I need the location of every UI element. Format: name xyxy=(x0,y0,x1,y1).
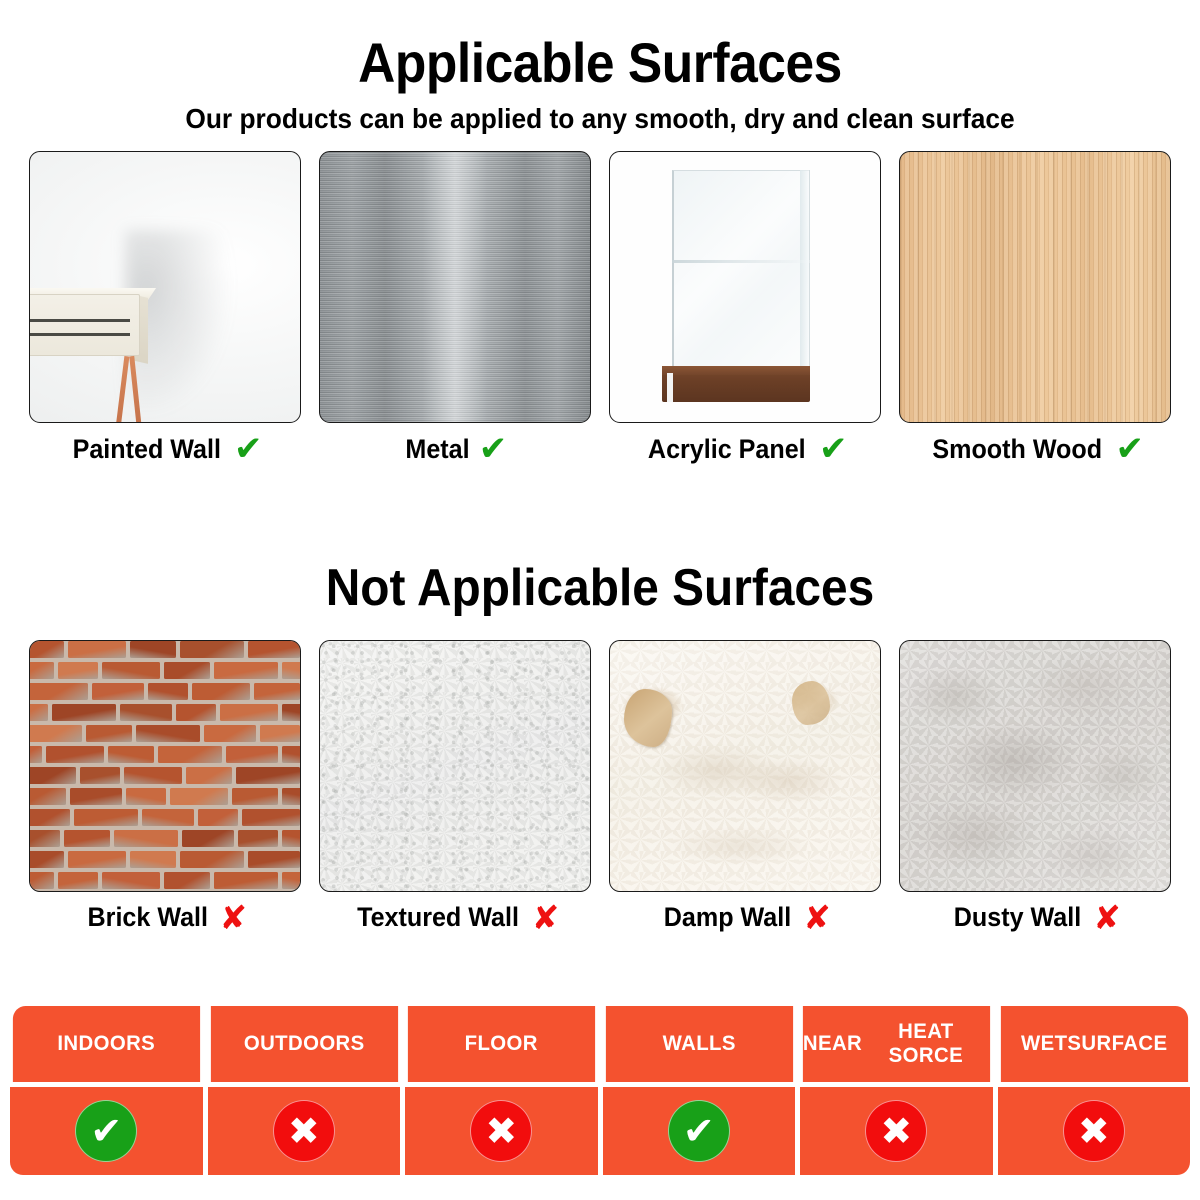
brick xyxy=(102,662,160,679)
brick xyxy=(220,704,278,721)
brick xyxy=(58,662,98,679)
label-line2: HEAT SORCE xyxy=(862,1020,989,1067)
surface-card-painted-wall: Painted Wall ✔ xyxy=(29,151,301,466)
brick xyxy=(242,809,300,826)
caption: Smooth Wood ✔ xyxy=(899,432,1171,466)
brick xyxy=(164,872,210,889)
caption: Textured Wall ✘ xyxy=(319,901,591,934)
surface-card-smooth-wood: Smooth Wood ✔ xyxy=(899,151,1171,466)
verdict-cell-walls: ✔ xyxy=(603,1087,796,1175)
verdict-header-near-heat-sorce: NEARHEAT SORCE xyxy=(803,1006,990,1082)
surface-card-metal: Metal ✔ xyxy=(319,151,591,466)
brick xyxy=(114,830,178,847)
brick xyxy=(148,683,188,700)
applicable-title: Applicable Surfaces xyxy=(48,30,1152,95)
brick xyxy=(29,809,70,826)
label-line1: WALLS xyxy=(662,1032,735,1056)
metal-highlight xyxy=(320,152,590,422)
verdict-header-floor: FLOOR xyxy=(408,1006,595,1082)
surface-label: Metal xyxy=(405,434,469,465)
brick xyxy=(29,872,54,889)
brick xyxy=(192,683,250,700)
cross-badge-icon: ✖ xyxy=(470,1100,532,1162)
brick xyxy=(282,830,301,847)
brick xyxy=(130,851,176,868)
brick xyxy=(248,851,300,868)
not-applicable-grid: Brick Wall ✘ Textured Wall ✘ Damp Wall xyxy=(0,640,1200,934)
verdict-header-wet-surface: WETSURFACE xyxy=(1000,1006,1187,1082)
brick-course xyxy=(30,788,300,808)
surface-card-textured-wall: Textured Wall ✘ xyxy=(319,640,591,934)
verdict-header-indoors: INDOORS xyxy=(13,1006,200,1082)
verdict-cell-indoors: ✔ xyxy=(10,1087,203,1175)
brick xyxy=(29,704,48,721)
brick-course xyxy=(30,872,300,892)
verdict-header-outdoors: OUTDOORS xyxy=(210,1006,397,1082)
caption: Metal ✔ xyxy=(319,432,591,466)
brick xyxy=(74,809,138,826)
paint-peel-right xyxy=(792,681,830,725)
brick-wall-image xyxy=(29,640,301,892)
surface-card-dusty-wall: Dusty Wall ✘ xyxy=(899,640,1171,934)
cross-icon: ✘ xyxy=(219,901,247,934)
brick xyxy=(238,830,278,847)
cross-badge-icon: ✖ xyxy=(1063,1100,1125,1162)
brick xyxy=(86,725,132,742)
check-icon: ✔ xyxy=(1115,432,1144,466)
brick xyxy=(164,662,210,679)
infographic-page: Applicable Surfaces Our products can be … xyxy=(0,0,1200,1200)
brick xyxy=(124,767,182,784)
verdict-table-header-row: INDOORSOUTDOORSFLOORWALLSNEARHEAT SORCEW… xyxy=(10,1006,1190,1082)
wooden-base-top xyxy=(662,366,810,375)
brick xyxy=(142,809,194,826)
cross-icon: ✘ xyxy=(532,901,560,934)
brick xyxy=(29,662,54,679)
not-applicable-section: Not Applicable Surfaces Brick Wall ✘ Tex… xyxy=(0,558,1200,934)
brick xyxy=(29,746,42,763)
surface-card-brick-wall: Brick Wall ✘ xyxy=(29,640,301,934)
cross-icon: ✘ xyxy=(1093,901,1121,934)
brick xyxy=(68,851,126,868)
brick xyxy=(126,788,166,805)
surface-label: Smooth Wood xyxy=(932,434,1102,465)
label-line2: SURFACE xyxy=(1067,1032,1167,1056)
brick xyxy=(282,872,301,889)
brick xyxy=(120,704,172,721)
brick xyxy=(108,746,154,763)
label-line1: WET xyxy=(1020,1032,1066,1056)
check-icon: ✔ xyxy=(234,432,263,466)
brick xyxy=(180,851,244,868)
wooden-base-slot xyxy=(667,373,673,402)
caption: Damp Wall ✘ xyxy=(609,901,881,934)
brick xyxy=(46,746,104,763)
brick xyxy=(254,683,300,700)
caption: Painted Wall ✔ xyxy=(29,432,301,466)
brick xyxy=(64,830,110,847)
surface-label: Dusty Wall xyxy=(954,902,1081,933)
brick-course xyxy=(30,725,300,745)
brick xyxy=(29,788,66,805)
brick-course xyxy=(30,830,300,850)
caption: Dusty Wall ✘ xyxy=(899,901,1171,934)
brick-course xyxy=(30,662,300,682)
label-line1: NEAR xyxy=(803,1032,862,1056)
brick xyxy=(70,788,122,805)
applicable-subtitle: Our products can be applied to any smoot… xyxy=(36,103,1164,135)
brick xyxy=(58,872,98,889)
verdict-cell-outdoors: ✖ xyxy=(208,1087,401,1175)
brick-course xyxy=(30,809,300,829)
brick xyxy=(29,683,88,700)
acrylic-panel-image xyxy=(609,151,881,423)
cross-icon: ✘ xyxy=(803,901,831,934)
acrylic-sheet xyxy=(672,170,810,386)
brick xyxy=(29,725,82,742)
brick xyxy=(248,641,300,658)
check-badge-icon: ✔ xyxy=(75,1100,137,1162)
dusty-wall-image xyxy=(899,640,1171,892)
brick xyxy=(282,704,301,721)
verdict-cell-wet-surface: ✖ xyxy=(998,1087,1191,1175)
surface-label: Damp Wall xyxy=(664,902,791,933)
caption: Brick Wall ✘ xyxy=(29,901,301,934)
verdict-cell-near-heat-sorce: ✖ xyxy=(800,1087,993,1175)
check-icon: ✔ xyxy=(819,432,848,466)
brick xyxy=(29,830,60,847)
applicable-section: Applicable Surfaces Our products can be … xyxy=(0,30,1200,466)
brick-course xyxy=(30,704,300,724)
brick-course xyxy=(30,683,300,703)
surface-card-damp-wall: Damp Wall ✘ xyxy=(609,640,881,934)
brick xyxy=(282,788,301,805)
brick xyxy=(204,725,256,742)
brick-course xyxy=(30,641,300,661)
surface-label: Brick Wall xyxy=(87,902,207,933)
brick xyxy=(158,746,222,763)
verdict-header-walls: WALLS xyxy=(605,1006,792,1082)
brick xyxy=(226,746,278,763)
check-icon: ✔ xyxy=(479,432,508,466)
not-applicable-title: Not Applicable Surfaces xyxy=(48,558,1152,618)
console-table-body xyxy=(29,294,140,356)
brick xyxy=(232,788,278,805)
brick xyxy=(92,683,144,700)
brick xyxy=(260,725,300,742)
brick xyxy=(52,704,116,721)
smooth-wood-image xyxy=(899,151,1171,423)
brick xyxy=(236,767,300,784)
surface-label: Painted Wall xyxy=(73,434,221,465)
brick xyxy=(214,662,278,679)
verdict-cell-floor: ✖ xyxy=(405,1087,598,1175)
brick xyxy=(214,872,278,889)
brick-course xyxy=(30,746,300,766)
cross-badge-icon: ✖ xyxy=(865,1100,927,1162)
brick xyxy=(282,662,301,679)
brick xyxy=(80,767,120,784)
brick xyxy=(136,725,200,742)
paint-peel-left xyxy=(624,689,672,747)
brick xyxy=(68,641,126,658)
acrylic-reflection xyxy=(672,260,810,263)
brick-course xyxy=(30,851,300,871)
surface-card-acrylic-panel: Acrylic Panel ✔ xyxy=(609,151,881,466)
textured-wall-image xyxy=(319,640,591,892)
drawer-line-1 xyxy=(30,319,130,322)
cross-badge-icon: ✖ xyxy=(273,1100,335,1162)
brick xyxy=(102,872,160,889)
brick xyxy=(29,851,64,868)
brick xyxy=(176,704,216,721)
brick xyxy=(282,746,301,763)
verdict-table-icon-row: ✔✖✖✔✖✖ xyxy=(10,1087,1190,1175)
metal-image xyxy=(319,151,591,423)
brick xyxy=(29,767,76,784)
drawer-line-2 xyxy=(30,333,130,336)
painted-wall-image xyxy=(29,151,301,423)
damp-wall-image xyxy=(609,640,881,892)
brick xyxy=(182,830,234,847)
label-line1: OUTDOORS xyxy=(243,1032,364,1056)
brick xyxy=(29,641,64,658)
brick xyxy=(170,788,228,805)
label-line1: FLOOR xyxy=(465,1032,538,1056)
brick xyxy=(186,767,232,784)
surface-label: Textured Wall xyxy=(357,902,519,933)
verdict-table: INDOORSOUTDOORSFLOORWALLSNEARHEAT SORCEW… xyxy=(10,1006,1190,1175)
check-badge-icon: ✔ xyxy=(668,1100,730,1162)
label-line1: INDOORS xyxy=(57,1032,155,1056)
brick xyxy=(198,809,238,826)
applicable-grid: Painted Wall ✔ Metal ✔ xyxy=(0,151,1200,466)
brick xyxy=(180,641,244,658)
brick xyxy=(130,641,176,658)
surface-label: Acrylic Panel xyxy=(648,434,806,465)
caption: Acrylic Panel ✔ xyxy=(609,432,881,466)
brick-course xyxy=(30,767,300,787)
acrylic-edge xyxy=(800,170,809,386)
